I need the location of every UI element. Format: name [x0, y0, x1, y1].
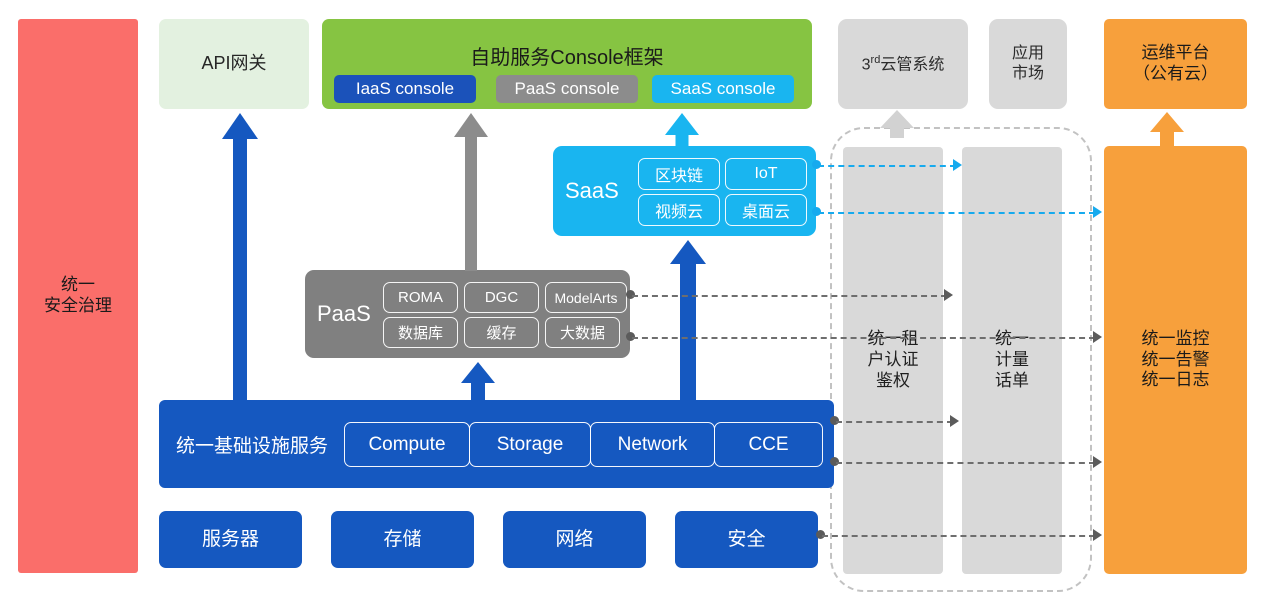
connector-arrowhead-paas-2 — [1093, 331, 1102, 343]
shared-column-metering-line2: 计量 — [995, 350, 1029, 371]
infra-item-network[interactable]: Network — [590, 422, 715, 467]
connector-saas-to-ops — [818, 212, 1095, 214]
connector-arrowhead-resources — [1093, 529, 1102, 541]
connector-arrowhead-saas-2 — [1093, 206, 1102, 218]
third-party-cloud-card[interactable]: 3rd云管系统 — [838, 19, 968, 109]
resource-box-network[interactable]: 网络 — [503, 511, 646, 568]
resource-box-server-label: 服务器 — [202, 528, 259, 551]
paas-item-dgc-label: DGC — [485, 289, 518, 306]
monitoring-line3: 统一日志 — [1142, 370, 1210, 391]
resource-box-network-label: 网络 — [555, 528, 593, 551]
paas-item-bigdata[interactable]: 大数据 — [545, 317, 620, 348]
paas-item-roma-label: ROMA — [398, 289, 443, 306]
paas-item-modelarts-label: ModelArts — [554, 290, 617, 306]
arrow-infra-to-paas — [461, 362, 495, 402]
shared-column-auth-line1: 统一租 — [868, 329, 919, 350]
paas-item-database-label: 数据库 — [398, 322, 443, 343]
monitoring-panel: 统一监控 统一告警 统一日志 — [1104, 146, 1247, 574]
connector-arrowhead-saas-1 — [953, 159, 962, 171]
connector-arrowhead-infra-1 — [950, 415, 959, 427]
infra-item-compute-label: Compute — [368, 434, 445, 456]
infra-item-compute[interactable]: Compute — [344, 422, 470, 467]
infra-item-cce-label: CCE — [748, 434, 788, 456]
security-governance-panel: 统一 安全治理 — [18, 19, 138, 573]
connector-infra-to-ops — [836, 462, 1095, 464]
connector-paas-to-ops — [632, 337, 1095, 339]
console-framework-title: 自助服务Console框架 — [322, 41, 812, 70]
console-framework-card: 自助服务Console框架 IaaS console PaaS console … — [322, 19, 812, 109]
paas-layer-label: PaaS — [317, 270, 371, 358]
security-governance-line1: 统一 — [61, 275, 95, 296]
arrow-infra-to-api-gateway — [222, 113, 258, 400]
chip-iaas-console[interactable]: IaaS console — [334, 75, 476, 103]
paas-layer: PaaS ROMA DGC ModelArts 数据库 缓存 大数据 — [305, 270, 630, 358]
saas-layer: SaaS 区块链 IoT 视频云 桌面云 — [553, 146, 816, 236]
connector-paas-to-auth — [632, 295, 947, 297]
resource-box-storage[interactable]: 存储 — [331, 511, 474, 568]
paas-item-dgc[interactable]: DGC — [464, 282, 539, 313]
security-governance-line2: 安全治理 — [44, 296, 112, 317]
chip-saas-console[interactable]: SaaS console — [652, 75, 794, 103]
arrow-saas-to-console — [665, 113, 699, 147]
shared-column-auth-line3: 鉴权 — [876, 371, 910, 392]
saas-item-blockchain[interactable]: 区块链 — [638, 158, 720, 190]
unified-infrastructure-label: 统一基础设施服务 — [176, 400, 328, 488]
api-gateway-label: API网关 — [201, 53, 266, 75]
connector-arrowhead-infra-2 — [1093, 456, 1102, 468]
resource-box-server[interactable]: 服务器 — [159, 511, 302, 568]
ops-platform-card[interactable]: 运维平台 （公有云） — [1104, 19, 1247, 109]
arrow-to-ops-platform — [1150, 112, 1184, 148]
infra-item-network-label: Network — [618, 434, 688, 456]
paas-item-database[interactable]: 数据库 — [383, 317, 458, 348]
chip-saas-console-label: SaaS console — [671, 79, 776, 99]
architecture-diagram: 统一租 户认证 鉴权 统一 计量 话单 统一 安全治理 API网关 自助服务Co… — [0, 0, 1265, 605]
saas-item-iot[interactable]: IoT — [725, 158, 807, 190]
app-market-line1: 应用 — [1012, 44, 1044, 64]
paas-item-cache-label: 缓存 — [486, 322, 516, 343]
saas-item-video-cloud-label: 视频云 — [655, 198, 703, 222]
connector-infra-to-auth — [836, 421, 953, 423]
arrow-infra-to-saas — [670, 240, 706, 402]
monitoring-line1: 统一监控 — [1142, 329, 1210, 350]
app-market-card[interactable]: 应用 市场 — [989, 19, 1067, 109]
paas-item-bigdata-label: 大数据 — [560, 322, 605, 343]
monitoring-line2: 统一告警 — [1142, 350, 1210, 371]
resource-box-security-label: 安全 — [727, 528, 765, 551]
shared-column-metering-line1: 统一 — [995, 329, 1029, 350]
chip-iaas-console-label: IaaS console — [356, 79, 454, 99]
saas-layer-label: SaaS — [565, 146, 619, 236]
connector-arrowhead-paas-1 — [944, 289, 953, 301]
unified-infrastructure-bar: 统一基础设施服务 Compute Storage Network CCE — [159, 400, 834, 488]
saas-item-desktop-cloud-label: 桌面云 — [742, 198, 790, 222]
arrow-paas-to-console — [454, 113, 488, 271]
chip-paas-console-label: PaaS console — [515, 79, 620, 99]
paas-item-cache[interactable]: 缓存 — [464, 317, 539, 348]
resource-box-storage-label: 存储 — [383, 528, 421, 551]
saas-item-desktop-cloud[interactable]: 桌面云 — [725, 194, 807, 226]
shared-column-metering-line3: 话单 — [995, 371, 1029, 392]
infra-item-cce[interactable]: CCE — [714, 422, 823, 467]
saas-item-blockchain-label: 区块链 — [655, 162, 703, 186]
app-market-line2: 市场 — [1012, 64, 1044, 84]
arrow-shared-to-third-party — [880, 110, 914, 138]
ops-platform-line1: 运维平台 — [1142, 43, 1210, 64]
paas-item-roma[interactable]: ROMA — [383, 282, 458, 313]
third-party-cloud-label: 3rd云管系统 — [862, 54, 945, 75]
connector-resources-to-ops — [822, 535, 1095, 537]
shared-column-auth-line2: 户认证 — [868, 350, 919, 371]
connector-saas-to-auth — [818, 165, 956, 167]
saas-item-video-cloud[interactable]: 视频云 — [638, 194, 720, 226]
ops-platform-line2: （公有云） — [1133, 64, 1218, 85]
paas-item-modelarts[interactable]: ModelArts — [545, 282, 627, 313]
saas-item-iot-label: IoT — [754, 165, 777, 183]
api-gateway-card[interactable]: API网关 — [159, 19, 309, 109]
infra-item-storage-label: Storage — [497, 434, 564, 456]
chip-paas-console[interactable]: PaaS console — [496, 75, 638, 103]
resource-box-security[interactable]: 安全 — [675, 511, 818, 568]
infra-item-storage[interactable]: Storage — [469, 422, 591, 467]
